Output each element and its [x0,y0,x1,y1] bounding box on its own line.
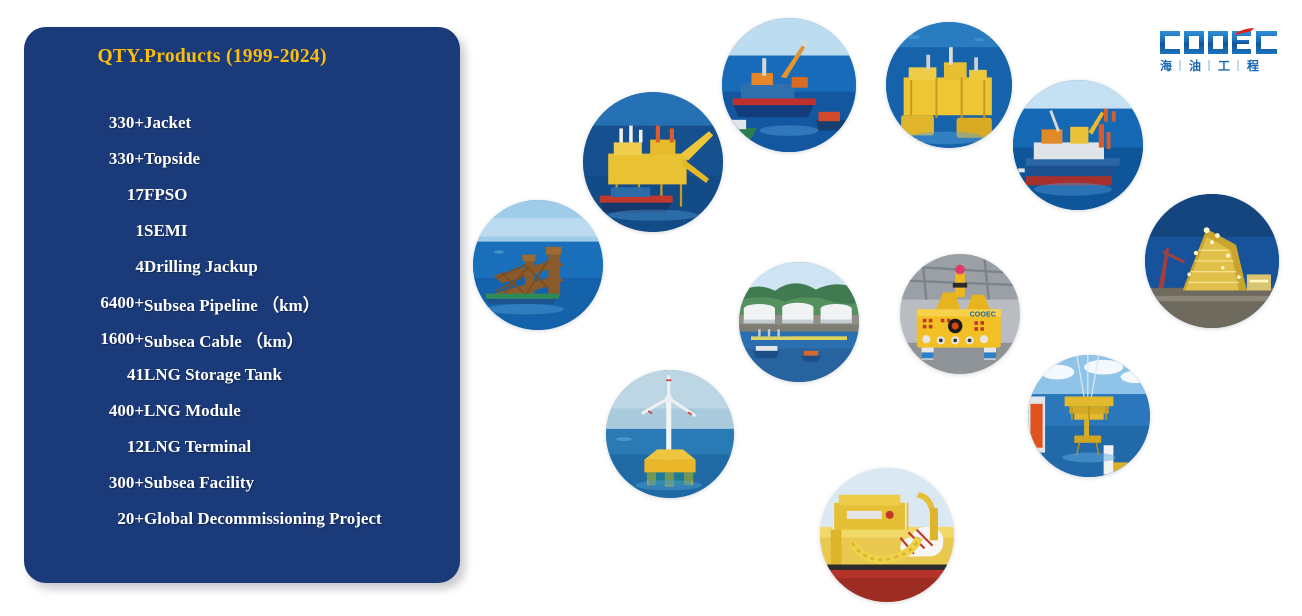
svg-text:海: 海 [1160,58,1172,73]
row-qty: 330+ [109,149,144,168]
row-product: LNG Terminal [144,437,251,456]
row-product: Topside [144,149,200,168]
logo-wordmark-shapes [1160,31,1277,54]
photo-decommissioning-lift [1028,355,1150,477]
photo-lng-module-yard [1145,194,1279,328]
table-row: 330+ Topside [24,141,460,177]
table-row: 1 SEMI [24,213,460,249]
row-product: Jacket [144,113,191,132]
row-qty: 20+ [117,509,144,528]
table-row: 20+ Global Decommissioning Project [24,501,460,537]
table-row: 400+ LNG Module [24,393,460,429]
table-row: 1600+ Subsea Cable （km） [24,321,460,357]
row-product: Drilling Jackup [144,257,258,276]
row-product: FPSO [144,185,187,204]
row-product: LNG Storage Tank [144,365,282,384]
row-qty: 6400+ [100,293,144,312]
header-products: Products (1999-2024) [144,46,327,67]
photo-fpso-vessel [1013,80,1143,210]
svg-text:油: 油 [1189,58,1201,73]
header-qty: QTY. [97,46,144,67]
row-qty: 4 [136,257,145,276]
row-product: Subsea Pipeline （km） [144,296,320,315]
row-qty: 12 [127,437,144,456]
row-product: SEMI [144,221,187,240]
row-qty: 41 [127,365,144,384]
row-qty: 1600+ [100,329,144,348]
svg-text:工: 工 [1218,59,1230,73]
photo-cable-lay-deck [820,468,954,602]
row-product: Subsea Cable （km） [144,332,304,351]
logo-chinese-text: 海 油 工 程 [1160,58,1259,73]
row-qty: 1 [136,221,145,240]
row-qty: 400+ [109,401,144,420]
products-panel: QTY. Products (1999-2024) 330+ Jacket 33… [24,27,460,583]
row-product: Global Decommissioning Project [144,509,382,528]
table-row: 12 LNG Terminal [24,429,460,465]
photo-subsea-manifold: COOEC [900,254,1020,374]
table-row: 41 LNG Storage Tank [24,357,460,393]
slide-canvas: QTY. Products (1999-2024) 330+ Jacket 33… [0,0,1302,616]
table-row: 300+ Subsea Facility [24,465,460,501]
row-qty: 17 [127,185,144,204]
products-table: QTY. Products (1999-2024) 330+ Jacket 33… [24,27,460,537]
table-row: 6400+ Subsea Pipeline （km） [24,285,460,321]
row-product: Subsea Facility [144,473,254,492]
row-qty: 330+ [109,113,144,132]
table-row: 4 Drilling Jackup [24,249,460,285]
photo-jacket-transport [473,200,603,330]
table-row: 17 FPSO [24,177,460,213]
table-row: 330+ Jacket [24,105,460,141]
photo-pipelay-vessel [722,18,856,152]
photo-lng-storage-tanks [739,262,859,382]
photo-floating-wind-turbine [606,370,734,498]
photo-semi-submersible [886,22,1012,148]
cooec-logo: 海 油 工 程 [1158,26,1282,74]
svg-text:程: 程 [1247,58,1259,73]
svg-text:COOEC: COOEC [970,309,996,318]
table-header-row: QTY. Products (1999-2024) [24,27,460,87]
row-product: LNG Module [144,401,241,420]
photo-fixed-platform-topside [583,92,723,232]
row-qty: 300+ [109,473,144,492]
